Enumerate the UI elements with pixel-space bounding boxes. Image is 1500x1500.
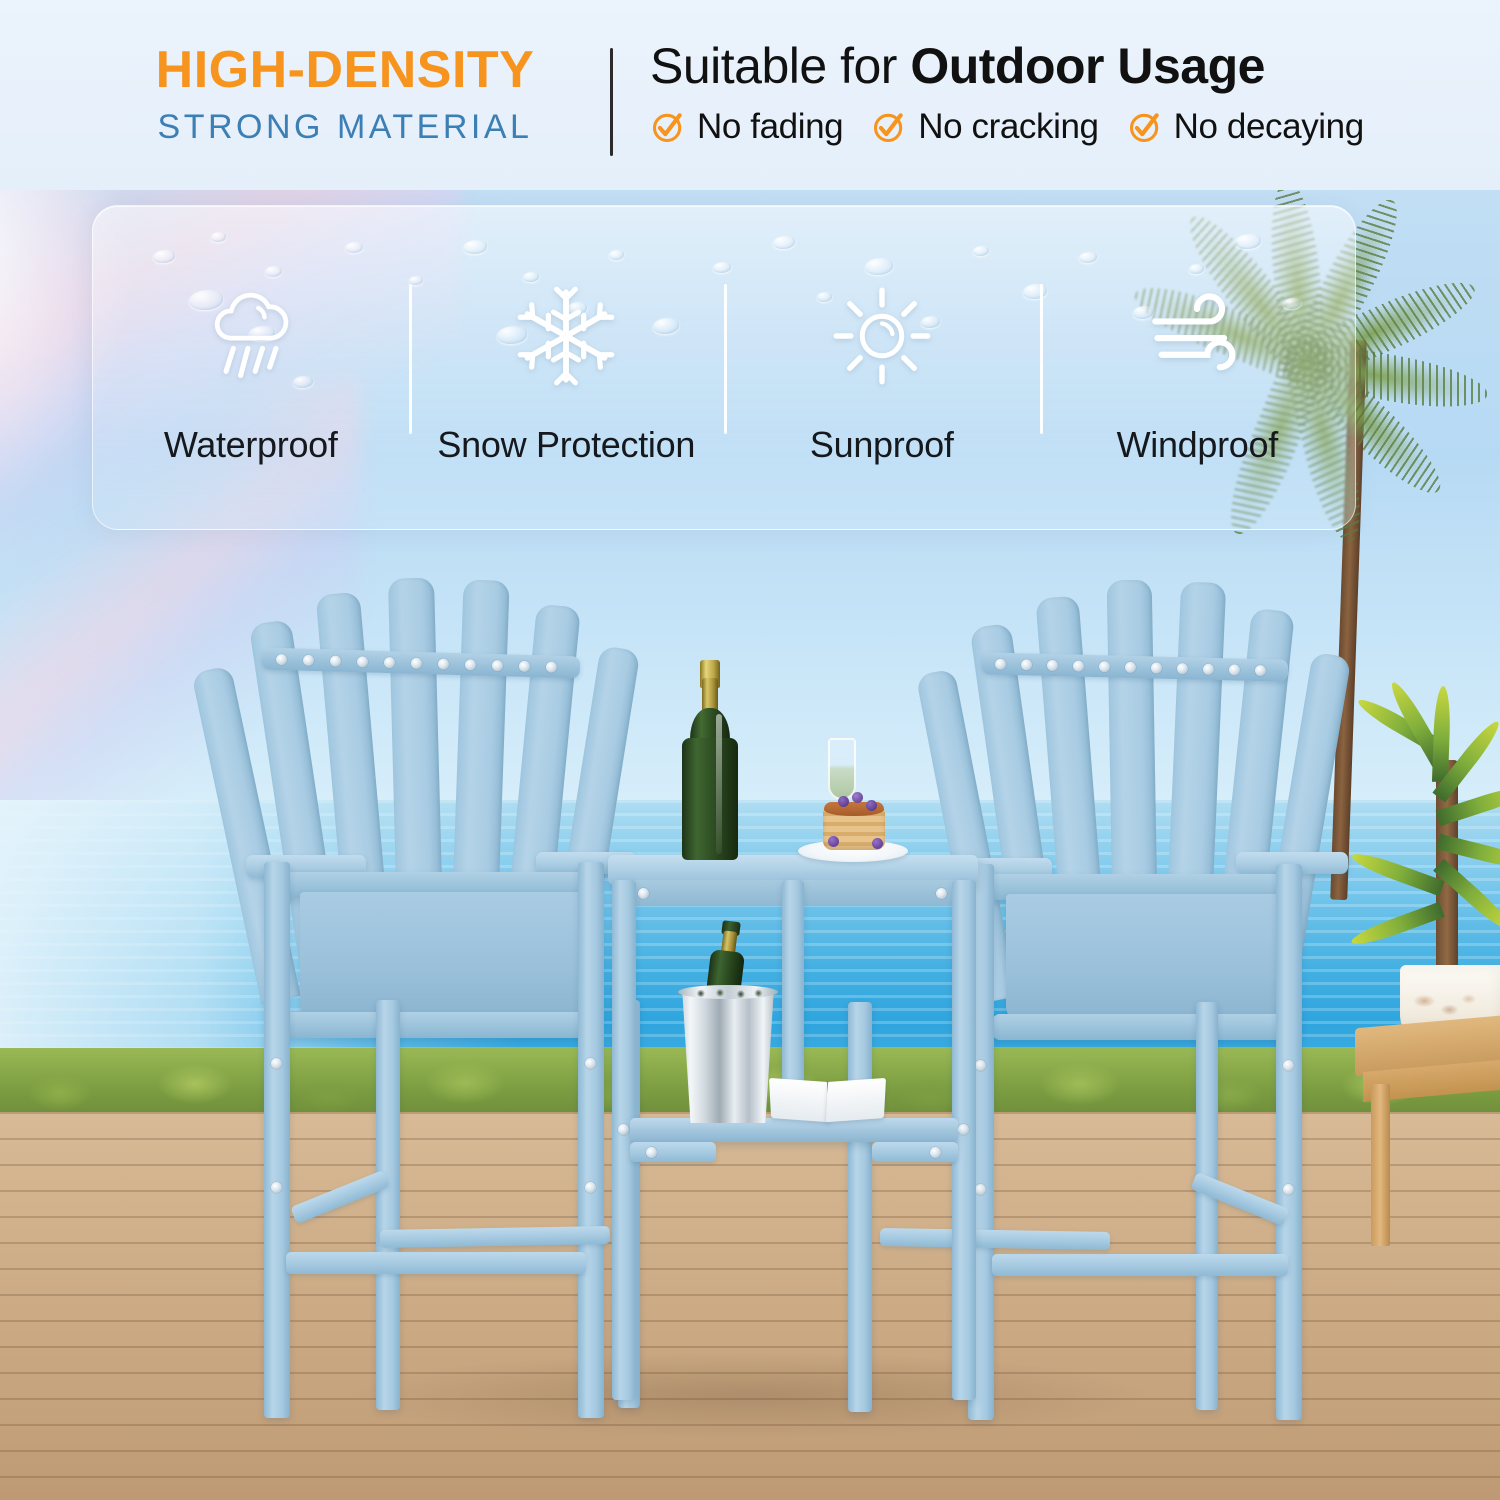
benefit-no-cracking: No cracking	[871, 107, 1098, 147]
screw-head	[411, 658, 422, 669]
screw-head	[492, 660, 503, 671]
screw-head	[271, 1058, 282, 1069]
screw-head	[438, 658, 449, 669]
chair-left-seat	[300, 892, 590, 1022]
screw-head	[1073, 660, 1084, 671]
screw-head	[465, 659, 476, 670]
screw-head	[330, 655, 341, 666]
screw-head	[303, 655, 314, 666]
screw-head	[357, 656, 368, 667]
feature-label: Waterproof	[164, 424, 338, 466]
benefit-label: No fading	[697, 107, 843, 147]
screw-head	[995, 659, 1006, 670]
chair-right-leg-front-right	[1276, 864, 1302, 1420]
chair-right-leg-rear-right	[1196, 1002, 1218, 1410]
screw-head	[638, 888, 649, 899]
header-divider	[610, 48, 613, 156]
screw-head	[1255, 665, 1266, 676]
feature-snow-protection: Snow Protection	[409, 206, 725, 529]
flute-bowl	[828, 738, 856, 800]
screw-head	[1177, 663, 1188, 674]
screw-head	[1125, 662, 1136, 673]
feature-label: Windproof	[1117, 424, 1278, 466]
screw-head	[975, 1184, 986, 1195]
outdoor-usage-block: Suitable for Outdoor Usage No fading No …	[650, 40, 1370, 147]
chair-right-rear-rung	[880, 1228, 1110, 1250]
chair-left-leg-front-right	[578, 862, 604, 1418]
badge-headline: HIGH-DENSITY	[110, 44, 580, 96]
wind-icon	[1145, 284, 1249, 388]
screw-head	[1229, 664, 1240, 675]
chair-right-seat	[1006, 894, 1292, 1024]
berry-garnish	[866, 800, 877, 811]
screw-head	[646, 1147, 657, 1158]
benefit-no-fading: No fading	[650, 107, 843, 147]
screw-head	[1283, 1184, 1294, 1195]
feature-label: Snow Protection	[437, 424, 695, 466]
ice-bucket-body	[676, 991, 780, 1123]
berry-garnish	[872, 838, 883, 849]
screw-head	[585, 1058, 596, 1069]
feature-label: Sunproof	[810, 424, 954, 466]
feature-list: Waterproof	[93, 206, 1355, 529]
material-badge: HIGH-DENSITY STRONG MATERIAL	[110, 44, 580, 144]
check-circle-icon	[1127, 109, 1163, 145]
screw-head	[276, 654, 287, 665]
feature-windproof: Windproof	[1040, 206, 1356, 529]
feature-waterproof: Waterproof	[93, 206, 409, 529]
screw-head	[1099, 661, 1110, 672]
rain-cloud-icon	[199, 284, 303, 388]
champagne-bottle	[682, 660, 738, 860]
berry-garnish	[838, 796, 849, 807]
chair-left-leg-front-left	[264, 862, 290, 1418]
chair-left-side-rung	[290, 1170, 389, 1224]
screw-head	[618, 1124, 629, 1135]
screw-head	[1283, 1060, 1294, 1071]
table-shelf-brace-left	[630, 1142, 716, 1162]
ice-cubes	[688, 987, 768, 1000]
check-circle-icon	[871, 109, 907, 145]
bottle-highlight	[716, 714, 722, 854]
chair-left-rear-rung	[380, 1226, 610, 1248]
screw-head	[1203, 664, 1214, 675]
badge-subline: STRONG MATERIAL	[110, 110, 580, 144]
benefit-no-decaying: No decaying	[1127, 107, 1364, 147]
berry-garnish	[852, 792, 863, 803]
bottle-body	[682, 738, 738, 860]
screw-head	[930, 1147, 941, 1158]
chair-right-footrest-rung	[992, 1254, 1288, 1276]
snowflake-icon	[514, 284, 618, 388]
header-bar: HIGH-DENSITY STRONG MATERIAL Suitable fo…	[0, 0, 1500, 190]
chair-right-seat-edge	[992, 1014, 1298, 1040]
book-page-right	[826, 1078, 886, 1122]
screw-head	[384, 657, 395, 668]
chair-left-footrest-rung	[286, 1252, 586, 1274]
benefit-label: No decaying	[1174, 107, 1364, 147]
benefit-label: No cracking	[918, 107, 1098, 147]
screw-head	[1021, 659, 1032, 670]
benefit-list: No fading No cracking No decaying	[650, 107, 1370, 147]
screw-head	[975, 1060, 986, 1071]
screw-head	[519, 661, 530, 672]
screw-head	[936, 888, 947, 899]
weather-feature-panel: Waterproof	[92, 205, 1356, 530]
product-marketing-image: Waterproof	[0, 0, 1500, 1500]
feature-sunproof: Sunproof	[724, 206, 1040, 529]
screw-head	[585, 1182, 596, 1193]
table-shelf-brace-right	[872, 1142, 958, 1162]
headline: Suitable for Outdoor Usage	[650, 40, 1370, 93]
sun-icon	[830, 284, 934, 388]
chair-left-seat-edge	[284, 1012, 594, 1038]
chair-left-leg-rear-left	[376, 1000, 400, 1410]
headline-prefix: Suitable for	[650, 38, 910, 94]
screw-head	[958, 1124, 969, 1135]
screw-head	[1047, 660, 1058, 671]
open-book	[770, 1080, 886, 1124]
screw-head	[546, 661, 557, 672]
check-circle-icon	[650, 109, 686, 145]
headline-strong: Outdoor Usage	[910, 38, 1265, 94]
screw-head	[271, 1182, 282, 1193]
stainless-ice-bucket	[676, 985, 780, 1123]
berry-garnish	[828, 836, 839, 847]
chair-right-leg-rear-left	[848, 1002, 872, 1412]
screw-head	[1151, 662, 1162, 673]
